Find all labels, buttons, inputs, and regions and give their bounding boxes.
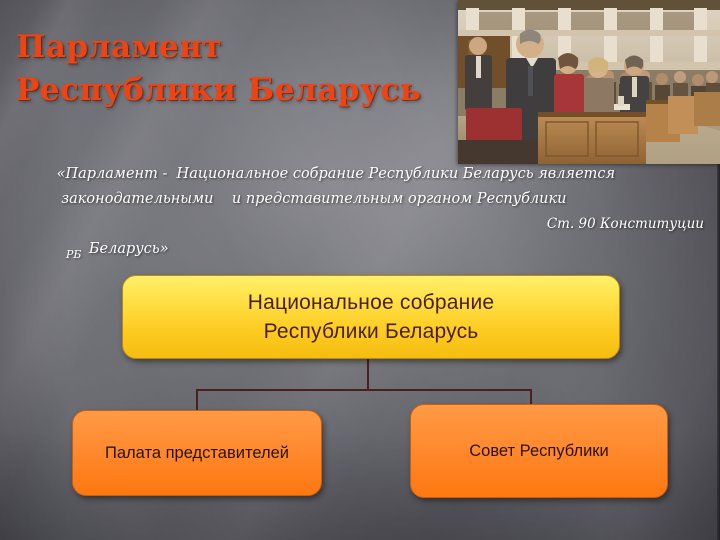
- slide-title: Парламент Республики Беларусь: [16, 26, 468, 112]
- photo-illustration: [458, 0, 720, 164]
- connector-vertical-left: [196, 389, 198, 411]
- diagram-box-national-assembly[interactable]: Национальное собрание Республики Беларус…: [122, 275, 620, 359]
- quote-line-3-text: Беларусь»: [80, 241, 169, 257]
- quote-line-1: «Парламент - Национальное собрание Респу…: [52, 162, 712, 187]
- parliament-chamber-photo: [458, 0, 720, 164]
- diagram-box-right-label: Совет Республики: [463, 442, 615, 461]
- quote-attribution-continuation: РБ: [66, 248, 82, 261]
- presentation-slide: Парламент Республики Беларусь: [0, 0, 720, 540]
- diagram-box-council-of-republic[interactable]: Совет Республики: [410, 404, 668, 498]
- diagram-box-house-of-representatives[interactable]: Палата представителей: [72, 410, 322, 496]
- connector-vertical-top: [367, 357, 369, 391]
- diagram-box-left-label: Палата представителей: [99, 444, 295, 463]
- quote-line-2: законодательными и представительным орга…: [52, 187, 712, 212]
- quote-attribution: Ст. 90 Конституции: [547, 212, 704, 237]
- connector-horizontal: [196, 389, 532, 391]
- diagram-box-main-label: Национальное собрание Республики Беларус…: [242, 288, 501, 346]
